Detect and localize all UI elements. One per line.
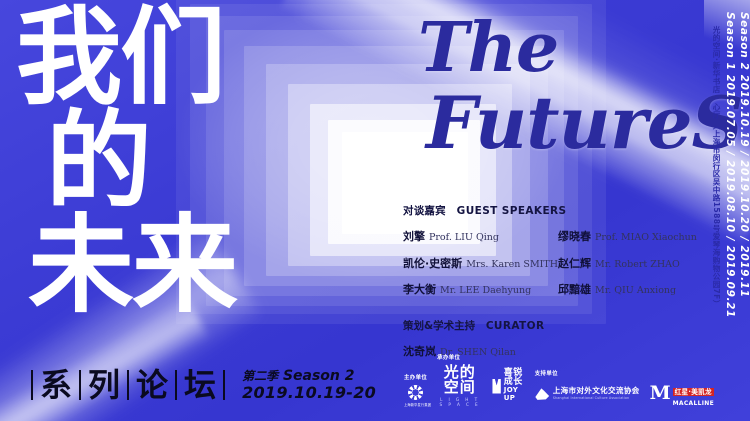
speakers-heading-cn: 对谈嘉宾 xyxy=(403,205,446,217)
speaker-entry: 凯伦·史密斯Mrs. Karen SMITH xyxy=(403,254,558,272)
headline-chinese: 我们 的 未来 xyxy=(16,6,256,318)
speaker-entry: 缪晓春Prof. MIAO Xiaochun xyxy=(558,227,713,245)
series-divider xyxy=(127,370,129,400)
speaker-entry: 赵仁辉Mr. Robert ZHAO xyxy=(558,254,713,272)
poster-root: 我们 的 未来 The FutureS 对谈嘉宾 GUEST SPEAKERS … xyxy=(0,0,750,421)
vertical-venue: 光的空间·新华书店 · 心厅 （上海市闵行区吴中路1588号爱琴海购物公园7F） xyxy=(711,0,722,308)
speaker-entry: 刘擎Prof. LIU Qing xyxy=(403,227,558,245)
speaker-name-cn: 李大衡 xyxy=(403,283,436,296)
title-the-futures: The FutureS xyxy=(412,16,743,159)
speakers-grid: 刘擎Prof. LIU Qing 缪晓春Prof. MIAO Xiaochun … xyxy=(403,227,713,298)
joy-up-logo: 喜锐成长 JOY UP xyxy=(492,369,524,402)
series-divider xyxy=(175,370,177,400)
series-season-info: 第二季 Season 2 2019.10.19-20 xyxy=(242,368,376,403)
sponsor-label-host: 主办单位 xyxy=(404,373,427,381)
series-dates: 2019.10.19-20 xyxy=(242,384,376,403)
vertical-info-strip: Season 2 2019.10.19 / 2019.10.20 / 2019.… xyxy=(706,0,750,421)
speaker-name-en: Mr. QIU Anxiong xyxy=(595,285,676,296)
sicea-logo-en: Shanghai International Culture Associati… xyxy=(553,396,640,400)
sponsor-group-host: 主办单位 上海新华发行集团 xyxy=(404,373,427,407)
speaker-name-en: Prof. LIU Qing xyxy=(429,232,499,243)
sponsor-logo-row-host: 上海新华发行集团 xyxy=(404,385,427,407)
joy-up-logo-cn: 喜锐成长 xyxy=(504,369,525,387)
speaker-name-cn: 缪晓春 xyxy=(558,230,591,243)
light-space-logo-cn: 光的空间 xyxy=(437,365,482,395)
series-char-3: 论 xyxy=(136,369,168,401)
series-divider xyxy=(223,370,225,400)
speaker-name-cn: 刘擎 xyxy=(403,230,425,243)
curator-heading: 策划&学术主持 CURATOR xyxy=(403,318,713,333)
sicea-mark-icon xyxy=(535,387,550,400)
curator-heading-cn: 策划&学术主持 xyxy=(403,320,475,332)
speaker-entry: 邱黯雄Mr. QIU Anxiong xyxy=(558,280,713,298)
flower-icon xyxy=(408,385,423,400)
vertical-season-1: Season 1 2019.07.05 / 2019.08.10 / 2019.… xyxy=(724,0,736,318)
headline-line-3: 未来 xyxy=(28,214,256,318)
xinhua-logo: 上海新华发行集团 xyxy=(404,385,426,407)
sponsors-bar: 主办单位 上海新华发行集团 承办单位 光的空间 L I G H T S P A … xyxy=(404,353,714,407)
speaker-name-en: Mr. Robert ZHAO xyxy=(595,259,680,270)
series-char-4: 坛 xyxy=(184,369,216,401)
vertical-season-2: Season 2 2019.10.19 / 2019.10.20 / 2019.… xyxy=(738,0,750,298)
speakers-block: 对谈嘉宾 GUEST SPEAKERS 刘擎Prof. LIU Qing 缪晓春… xyxy=(403,203,713,360)
xinhua-logo-caption: 上海新华发行集团 xyxy=(404,402,426,407)
series-bar: 系 列 论 坛 第二季 Season 2 2019.10.19-20 xyxy=(24,368,376,403)
sicea-logo: 上海市对外文化交流协会 Shanghai International Cultu… xyxy=(535,387,640,401)
series-divider xyxy=(31,370,33,400)
macalline-logo: M 红星·美凯龙 MACALLINE xyxy=(650,381,714,407)
title-line-the: The xyxy=(418,16,743,81)
series-season-en: Season 2 xyxy=(283,368,355,384)
sponsor-group-organizer: 承办单位 光的空间 L I G H T S P A C E 喜锐成长 JOY U… xyxy=(437,353,525,407)
series-char-1: 系 xyxy=(40,369,72,401)
speaker-entry: 李大衡Mr. LEE Daehyung xyxy=(403,280,558,298)
headline-line-2: 的 xyxy=(46,110,256,214)
speakers-heading-en: GUEST SPEAKERS xyxy=(457,205,567,217)
speaker-name-en: Prof. MIAO Xiaochun xyxy=(595,232,697,243)
series-season-row: 第二季 Season 2 xyxy=(242,368,376,385)
sponsor-label-organizer: 承办单位 xyxy=(437,353,525,361)
series-season-cn: 第二季 xyxy=(242,369,278,383)
speaker-name-en: Mr. LEE Daehyung xyxy=(440,285,531,296)
speakers-heading: 对谈嘉宾 GUEST SPEAKERS xyxy=(403,203,713,218)
speaker-name-cn: 凯伦·史密斯 xyxy=(403,257,462,270)
joy-up-logo-text: 喜锐成长 JOY UP xyxy=(504,369,525,402)
joy-up-logo-en: JOY UP xyxy=(504,387,525,402)
sicea-logo-text: 上海市对外文化交流协会 Shanghai International Cultu… xyxy=(553,387,640,401)
headline-line-1: 我们 xyxy=(16,6,256,110)
sponsor-group-support: 支持单位 上海市对外文化交流协会 Shanghai International … xyxy=(535,369,714,407)
sponsor-logo-row-organizer: 光的空间 L I G H T S P A C E 喜锐成长 JOY UP xyxy=(437,365,525,407)
macalline-m-icon: M xyxy=(650,384,671,403)
sponsor-label-support: 支持单位 xyxy=(535,369,714,377)
sponsor-logo-row-support: 上海市对外文化交流协会 Shanghai International Cultu… xyxy=(535,381,714,407)
speaker-name-cn: 赵仁辉 xyxy=(558,257,591,270)
speaker-name-en: Mrs. Karen SMITH xyxy=(466,259,558,270)
light-space-logo: 光的空间 L I G H T S P A C E xyxy=(437,365,482,407)
speaker-name-cn: 邱黯雄 xyxy=(558,283,591,296)
series-char-2: 列 xyxy=(88,369,120,401)
series-divider xyxy=(79,370,81,400)
joy-up-mark-icon xyxy=(492,379,500,394)
sicea-logo-cn: 上海市对外文化交流协会 xyxy=(553,387,640,395)
curator-heading-en: CURATOR xyxy=(486,320,545,332)
light-space-logo-en: L I G H T S P A C E xyxy=(437,397,482,407)
title-line-futures: FutureS xyxy=(426,87,743,159)
